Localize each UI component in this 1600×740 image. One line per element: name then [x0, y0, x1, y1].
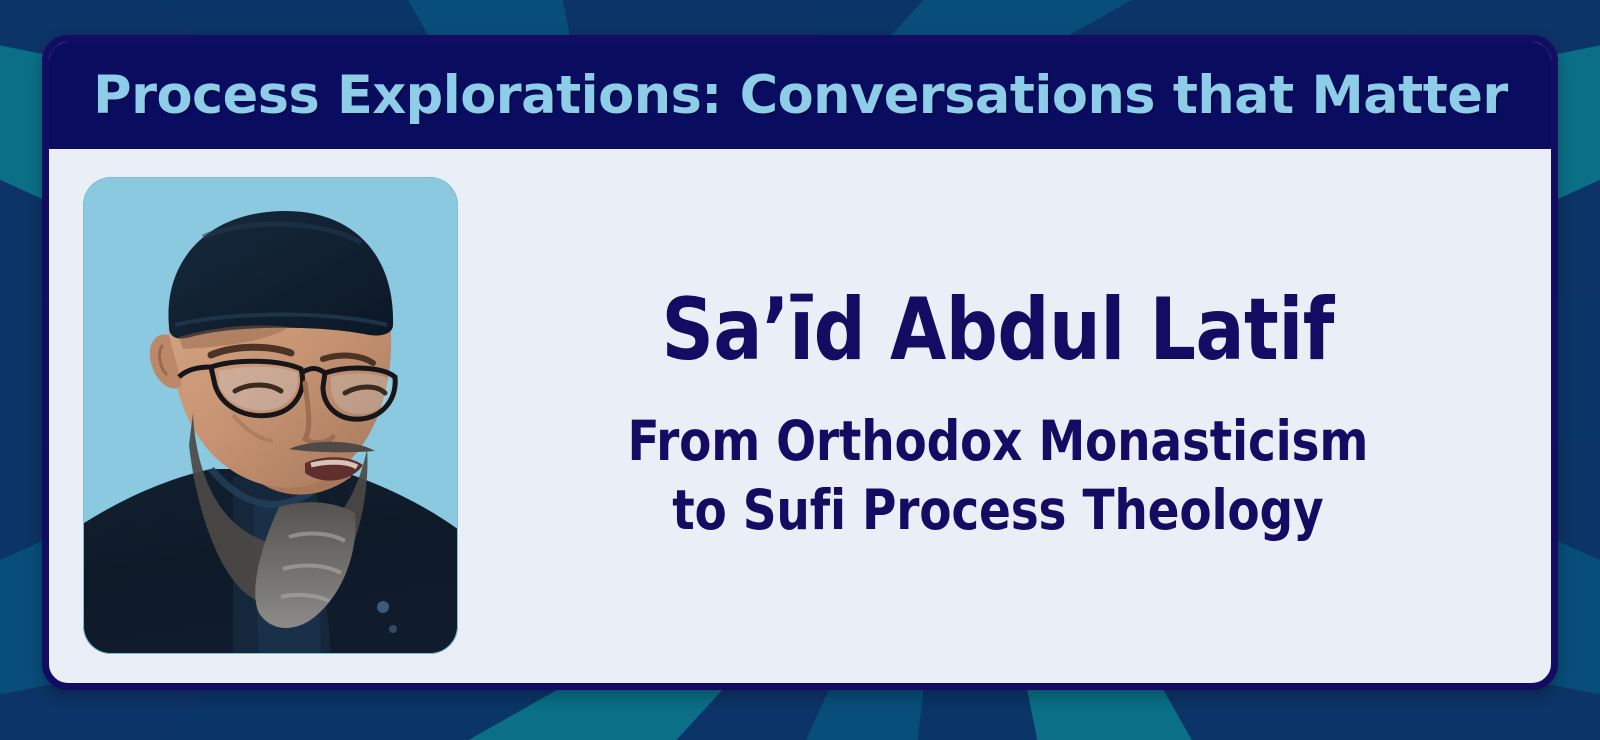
- speaker-talk-title-line-2: to Sufi Process Theology: [627, 476, 1368, 544]
- speaker-text-block: Sa’īd Abdul Latif From Orthodox Monastic…: [458, 177, 1517, 654]
- speaker-talk-title-line-1: From Orthodox Monasticism: [627, 407, 1368, 475]
- series-title: Process Explorations: Conversations that…: [93, 65, 1508, 126]
- speaker-card: Process Explorations: Conversations that…: [42, 35, 1558, 690]
- speaker-talk-title: From Orthodox Monasticism to Sufi Proces…: [627, 407, 1368, 543]
- speaker-portrait-illustration: [83, 177, 458, 654]
- card-body: Sa’īd Abdul Latif From Orthodox Monastic…: [49, 149, 1551, 683]
- speaker-portrait: [83, 177, 458, 654]
- poster-canvas: Process Explorations: Conversations that…: [0, 0, 1600, 740]
- card-header-bar: Process Explorations: Conversations that…: [49, 42, 1551, 149]
- speaker-name: Sa’īd Abdul Latif: [661, 287, 1333, 373]
